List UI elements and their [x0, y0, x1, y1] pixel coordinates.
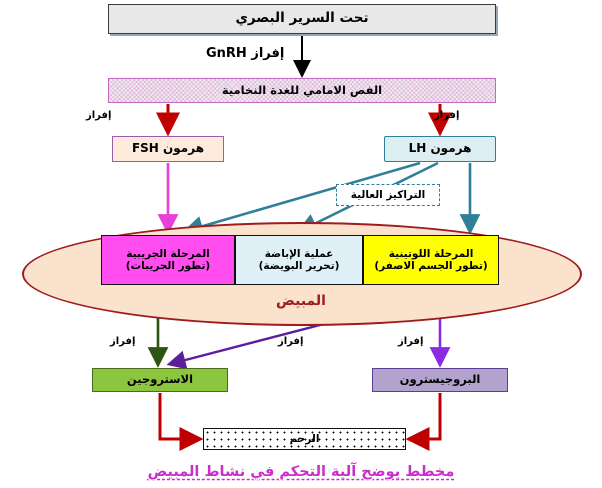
- edge-label-secretion-progesterone: إفراز: [398, 336, 423, 347]
- node-luteal-phase: المرحلة اللوتينية (تطور الجسم الاصفر): [363, 235, 499, 285]
- edge-label-secretion-fsh: إفراز: [86, 110, 111, 121]
- luteal-phase-title: المرحلة اللوتينية: [374, 248, 487, 260]
- ovulation-subtitle: (تحرير البويضة): [259, 260, 340, 272]
- node-high-concentration: التراكيز العالية: [336, 184, 440, 206]
- follicular-phase-subtitle: (تطور الجريبات): [126, 260, 210, 272]
- ovulation-title: عملية الإباضة: [259, 248, 340, 260]
- node-hypothalamus: تحت السرير البصري: [108, 4, 496, 34]
- node-ovulation: عملية الإباضة (تحرير البويضة): [235, 235, 363, 285]
- ovary-label: المبيض: [0, 293, 602, 309]
- node-uterus: الرحم: [203, 428, 406, 450]
- luteal-phase-subtitle: (تطور الجسم الاصفر): [374, 260, 487, 272]
- node-follicular-phase: المرحلة الجريبية (تطور الجريبات): [101, 235, 235, 285]
- node-estrogen: الاستروجين: [92, 368, 228, 392]
- node-lh-hormone: هرمون LH: [384, 136, 496, 162]
- node-fsh-hormone: هرمون FSH: [112, 136, 224, 162]
- follicular-phase-title: المرحلة الجريبية: [126, 248, 210, 260]
- edge-label-secretion-estrogen-mid: إفراز: [278, 336, 303, 347]
- node-progesterone: البروجيسترون: [372, 368, 508, 392]
- edge-label-gnrh: إفراز GnRH: [206, 46, 284, 61]
- diagram-caption: مخطط يوضح آلية التحكم في نشاط المبيض: [0, 464, 602, 480]
- edge-label-secretion-lh: إفراز: [434, 110, 459, 121]
- edge-label-secretion-estrogen-left: إفراز: [110, 336, 135, 347]
- diagram-canvas: المبيض تحت السرير البصري الفص الامامي لل…: [0, 0, 602, 488]
- node-anterior-pituitary: الفص الامامي للغدة النخامية: [108, 78, 496, 103]
